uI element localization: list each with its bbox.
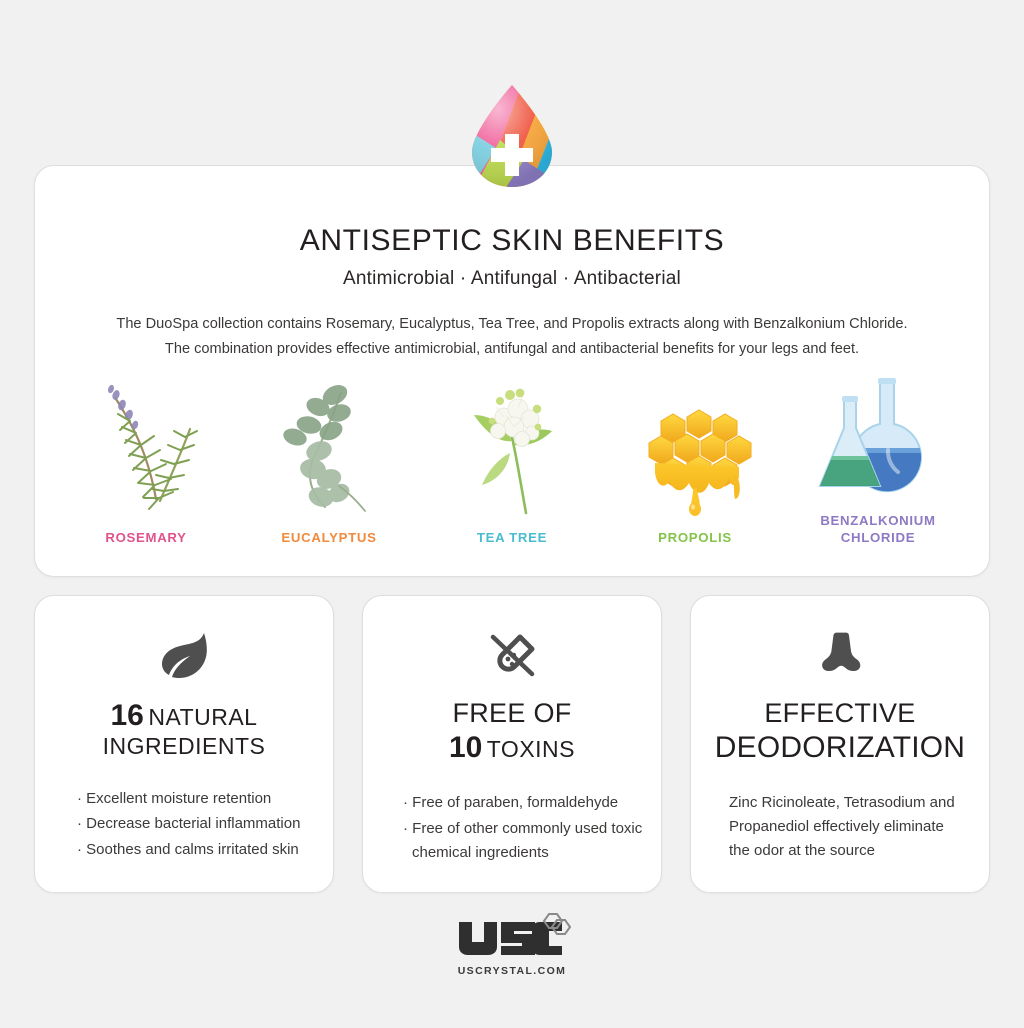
benefit-line-effective: EFFECTIVE xyxy=(715,698,965,730)
tea-tree-flower-illustration xyxy=(452,379,572,521)
benefit-line-ingredients: INGREDIENTS xyxy=(103,733,266,760)
benzalkonium-line-2: CHLORIDE xyxy=(841,530,915,545)
nose-icon xyxy=(812,626,868,684)
benefit-line-free-of: FREE OF xyxy=(449,698,575,730)
benefit-number-10: 10 xyxy=(449,731,482,764)
ingredient-label-eucalyptus: EUCALYPTUS xyxy=(281,530,376,547)
benefit-paragraph: Zinc Ricinoleate, Tetrasodium and Propan… xyxy=(709,791,971,862)
rosemary-sprig-illustration xyxy=(86,379,206,521)
benefit-line-deodorization: DEODORIZATION xyxy=(715,730,965,765)
hero-description-line-1: The DuoSpa collection contains Rosemary,… xyxy=(67,312,957,337)
no-test-tube-icon xyxy=(484,626,540,684)
list-item: · Free of other commonly used toxic chem… xyxy=(403,817,643,864)
benefit-card-free-of-toxins: FREE OF 10 TOXINS · Free of paraben, for… xyxy=(362,595,662,893)
ingredient-label-propolis: PROPOLIS xyxy=(658,530,732,547)
benefit-card-deodorization: EFFECTIVE DEODORIZATION Zinc Ricinoleate… xyxy=(690,595,990,893)
bullet-text: Decrease bacterial inflammation xyxy=(86,815,300,832)
infographic-page: ANTISEPTIC SKIN BENEFITS Antimicrobial ·… xyxy=(0,0,1024,1028)
ingredient-label-rosemary: ROSEMARY xyxy=(105,530,186,547)
ingredient-eucalyptus: EUCALYPTUS xyxy=(240,379,418,547)
list-item: · Decrease bacterial inflammation xyxy=(77,812,315,836)
leaf-icon xyxy=(156,626,212,684)
benefit-number-16: 16 xyxy=(111,699,144,732)
ingredient-list: ROSEMARY xyxy=(57,362,967,546)
ingredient-label-tea-tree: TEA TREE xyxy=(477,530,547,547)
page-subtitle: Antimicrobial · Antifungal · Antibacteri… xyxy=(35,268,989,290)
hero-card: ANTISEPTIC SKIN BENEFITS Antimicrobial ·… xyxy=(34,165,990,577)
ingredient-label-benzalkonium-chloride: BENZALKONIUM CHLORIDE xyxy=(820,513,935,546)
benefit-heading-deodorization: EFFECTIVE DEODORIZATION xyxy=(715,698,965,765)
benefit-bullet-list: · Free of paraben, formaldehyde · Free o… xyxy=(381,791,643,866)
hero-description: The DuoSpa collection contains Rosemary,… xyxy=(67,312,957,362)
eucalyptus-branch-illustration xyxy=(269,379,389,521)
list-item: · Excellent moisture retention xyxy=(77,787,315,811)
honeycomb-illustration xyxy=(635,379,755,521)
benefit-card-natural-ingredients: 16 NATURAL INGREDIENTS · Excellent moist… xyxy=(34,595,334,893)
footer-wordmark: USCRYSTAL.COM xyxy=(458,965,567,977)
benefit-word-natural: NATURAL xyxy=(148,704,257,730)
ingredient-benzalkonium-chloride: BENZALKONIUM CHLORIDE xyxy=(789,362,967,546)
hero-description-line-2: The combination provides effective antim… xyxy=(67,337,957,362)
benefit-word-toxins: TOXINS xyxy=(487,736,575,762)
bullet-text: Free of paraben, formaldehyde xyxy=(412,794,618,811)
list-item: · Free of paraben, formaldehyde xyxy=(403,791,643,815)
benefit-heading-natural-ingredients: 16 NATURAL INGREDIENTS xyxy=(103,698,266,761)
uscrystal-logo-icon xyxy=(453,912,571,962)
droplet-logo xyxy=(0,82,1024,190)
ingredient-tea-tree: TEA TREE xyxy=(423,379,601,547)
bullet-text: Soothes and calms irritated skin xyxy=(86,841,299,858)
bullet-text: Excellent moisture retention xyxy=(86,790,271,807)
list-item: · Soothes and calms irritated skin xyxy=(77,838,315,862)
lab-flasks-illustration xyxy=(818,362,938,504)
benefit-bullet-list: · Excellent moisture retention · Decreas… xyxy=(53,787,315,864)
benefit-heading-free-of-toxins: FREE OF 10 TOXINS xyxy=(449,698,575,765)
page-title: ANTISEPTIC SKIN BENEFITS xyxy=(35,224,989,258)
footer-logo: USCRYSTAL.COM xyxy=(0,912,1024,977)
rainbow-droplet-cross-icon xyxy=(466,82,558,190)
bullet-text: Free of other commonly used toxic chemic… xyxy=(412,820,642,861)
ingredient-propolis: PROPOLIS xyxy=(606,379,784,547)
benzalkonium-line-1: BENZALKONIUM xyxy=(820,513,935,528)
benefit-card-row: 16 NATURAL INGREDIENTS · Excellent moist… xyxy=(34,595,990,893)
ingredient-rosemary: ROSEMARY xyxy=(57,379,235,547)
